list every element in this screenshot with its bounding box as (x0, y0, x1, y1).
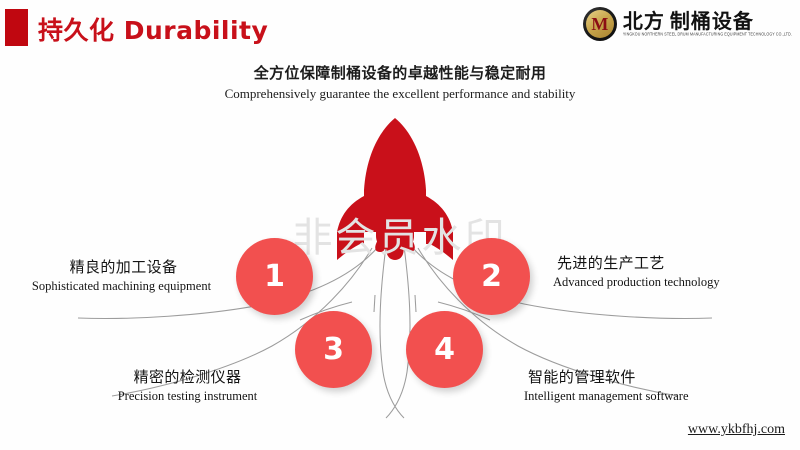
feature-label-3-cn: 精密的检测仪器 (100, 366, 275, 387)
step-circle-2[interactable]: 2 (453, 238, 530, 315)
step-circle-4[interactable]: 4 (406, 311, 483, 388)
feature-label-3-en: Precision testing instrument (100, 389, 275, 404)
footer-website-url[interactable]: www.ykbfhj.com (688, 422, 785, 438)
slide-canvas: 持久化 Durability M 北方制桶设备 YINGKOU NORTHERN… (0, 0, 800, 450)
feature-label-1: 精良的加工设备 Sophisticated machining equipmen… (14, 256, 229, 294)
feature-label-4: 智能的管理软件 Intelligent management software (524, 366, 689, 404)
feature-label-2: 先进的生产工艺 Advanced production technology (553, 252, 720, 290)
feature-label-2-cn: 先进的生产工艺 (553, 252, 720, 273)
logo-monogram: M (591, 15, 608, 33)
feature-label-2-en: Advanced production technology (553, 275, 720, 290)
step-circle-1[interactable]: 1 (236, 238, 313, 315)
feature-label-1-en: Sophisticated machining equipment (14, 279, 229, 294)
feature-label-4-cn: 智能的管理软件 (524, 366, 689, 387)
feature-label-1-cn: 精良的加工设备 (14, 256, 229, 277)
feature-label-4-en: Intelligent management software (524, 389, 689, 404)
step-circle-3[interactable]: 3 (295, 311, 372, 388)
feature-label-3: 精密的检测仪器 Precision testing instrument (100, 366, 275, 404)
